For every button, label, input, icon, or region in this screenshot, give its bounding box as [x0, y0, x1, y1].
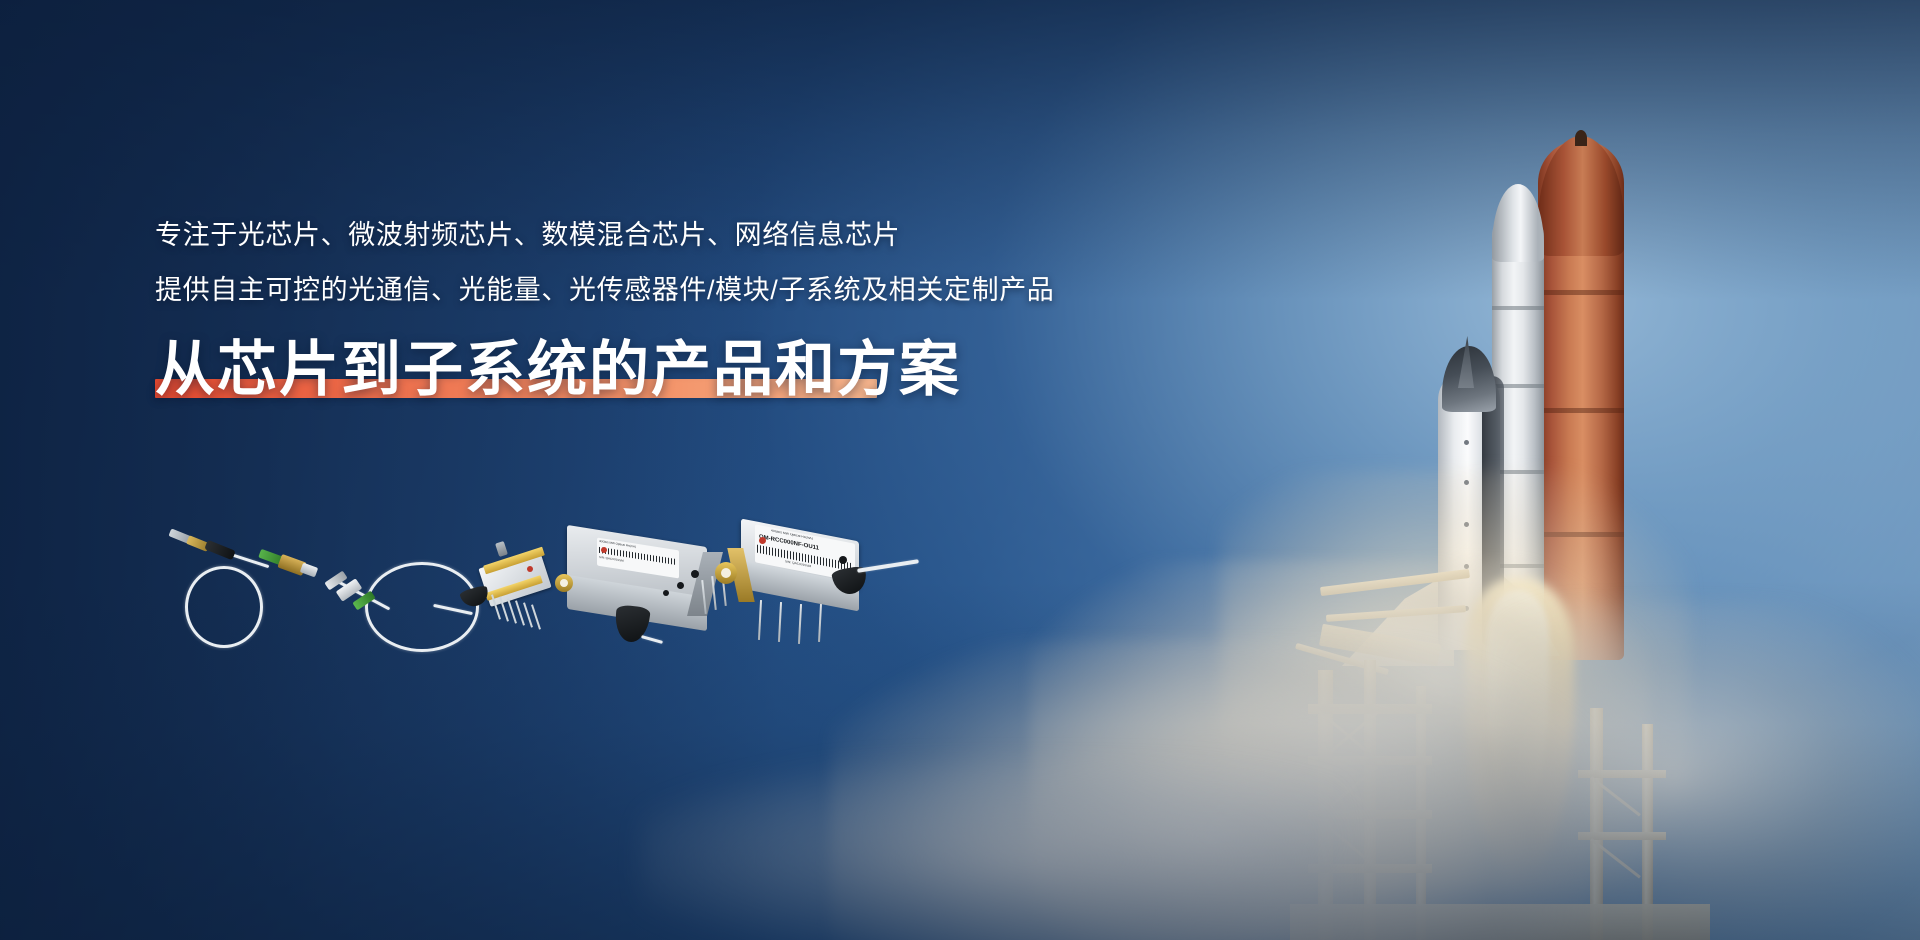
receiver-port [839, 556, 847, 564]
orbiter-marking [1464, 480, 1469, 485]
receiver-pin [778, 602, 782, 642]
hero-headline-wrap: 从芯片到子系统的产品和方案 [155, 338, 961, 402]
output-fiber [857, 559, 919, 573]
product-rf-metal-module: 40Gb/s MW Optical Rx(mA) S/N: QAC001SSM [553, 530, 733, 648]
receiver-pin [798, 604, 802, 644]
tank-band [1538, 408, 1624, 413]
hero-headline: 从芯片到子系统的产品和方案 [155, 338, 961, 402]
orbiter-window [1464, 440, 1469, 445]
tec-connector [495, 541, 508, 557]
module-port [691, 570, 699, 578]
sma-center-pin [560, 579, 568, 587]
product-showcase: 40Gb/s MW Optical Rx(mA) S/N: QAC001SSM … [155, 528, 915, 648]
hero-subtitle-line-2: 提供自主可控的光通信、光能量、光传感器件/模块/子系统及相关定制产品 [155, 277, 1155, 304]
red-marking-dot [527, 566, 533, 572]
module-port [663, 590, 669, 596]
brand-logo-dot [601, 547, 607, 553]
booster-nose [1492, 184, 1544, 262]
booster-band [1492, 306, 1544, 310]
hero-banner: 专注于光芯片、微波射频芯片、数模混合芯片、网络信息芯片 提供自主可控的光通信、光… [0, 0, 1920, 940]
brand-logo-dot [759, 537, 766, 544]
external-tank-tip [1575, 130, 1587, 146]
product-optical-receiver-module: 40Gb/s MW Optical Rx(mA) OM-RCC000NF-OU1… [715, 522, 935, 652]
tank-band [1538, 290, 1624, 295]
fiber-coil [185, 566, 263, 648]
receiver-pin [818, 604, 822, 642]
output-fiber [641, 635, 663, 644]
hero-copy: 专注于光芯片、微波射频芯片、数模混合芯片、网络信息芯片 提供自主可控的光通信、光… [155, 222, 1155, 402]
sma-center-pin [721, 568, 731, 578]
tank-band [1538, 532, 1624, 537]
product-fiber-pigtail-coil-1 [155, 528, 325, 648]
hero-subtitle-line-1: 专注于光芯片、微波射频芯片、数模混合芯片、网络信息芯片 [155, 222, 1155, 249]
module-port [677, 582, 684, 589]
strain-relief-boot [204, 540, 236, 561]
receiver-pin [758, 600, 762, 640]
orbiter-marking [1464, 522, 1469, 527]
connector-cap [300, 563, 318, 578]
fiber-boot [459, 584, 491, 609]
